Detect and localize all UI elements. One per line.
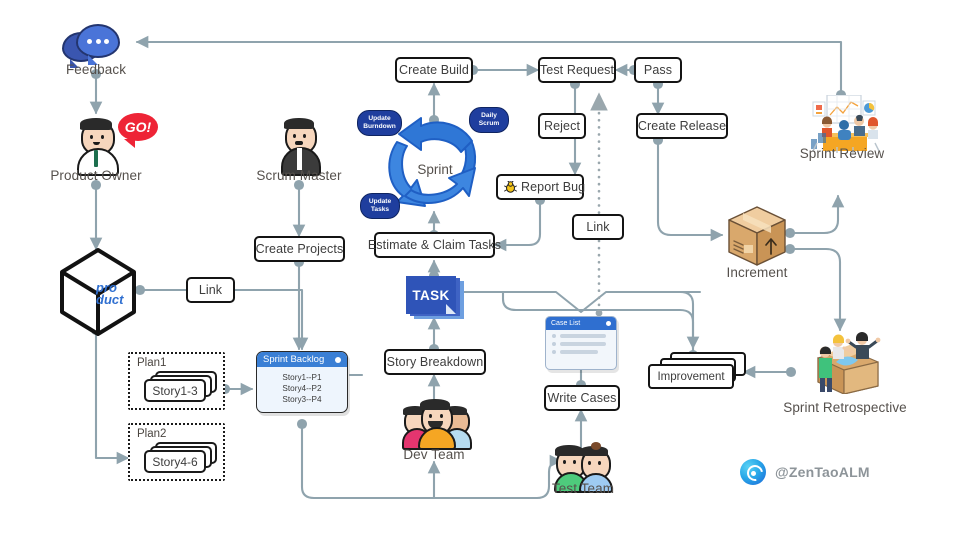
backlog-item: Story4--P2 [257,383,347,394]
sprint-backlog-header: Sprint Backlog [257,352,347,367]
increment-parcel-icon [726,205,788,267]
test-team-label: Test Team [531,481,635,496]
report-bug-box[interactable]: Report Bug [496,174,584,200]
report-bug-label: Report Bug [521,181,585,194]
create-release-box[interactable]: Create Release [636,113,728,139]
sprint-review-label: Sprint Review [791,146,893,161]
backlog-item: Story1--P1 [257,372,347,383]
go-badge: GO! [118,113,158,141]
dev-team-avatar [404,398,466,446]
plan2-story-label: Story4-6 [146,452,204,471]
estimate-claim-tasks-box[interactable]: Estimate & Claim Tasks [374,232,495,258]
product-cube-label: pro duct [96,282,123,306]
zentao-logo-icon [740,459,766,485]
sprint-retrospective-label: Sprint Retrospective [775,400,915,415]
zentao-handle: @ZenTaoALM [775,464,870,480]
status-dot-icon [606,321,611,326]
write-cases-box[interactable]: Write Cases [544,385,620,411]
task-note-icon: TASK [406,276,462,318]
product-owner-label: Product Owner [36,168,156,183]
case-list-title: Case List [551,320,580,327]
improvement-label: Improvement [657,371,724,383]
scrum-workflow-diagram: Feedback GO! Product Owner Scrum Master [0,0,960,539]
pass-box[interactable]: Pass [634,57,682,83]
feedback-label: Feedback [46,62,146,77]
scrum-master-label: Scrum Master [244,168,354,183]
link-left-box[interactable]: Link [186,277,235,303]
bug-icon [504,181,517,193]
product-owner-avatar [72,117,120,173]
sprint-backlog-items: Story1--P1 Story4--P2 Story3--P4 [257,367,347,405]
sprint-retrospective-illustration [792,332,886,394]
task-note-label: TASK [412,288,449,303]
plan1-story-stack: Story1-3 [144,371,222,405]
plan1-story-label: Story1-3 [146,381,204,400]
create-build-box[interactable]: Create Build [395,57,473,83]
backlog-item: Story3--P4 [257,394,347,405]
plan2-label: Plan2 [137,428,166,440]
chat-bubble-front-icon [76,24,120,58]
status-dot-icon [335,357,341,363]
dev-team-label: Dev Team [384,447,484,462]
plan2-story-stack: Story4-6 [144,442,222,476]
create-projects-box[interactable]: Create Projects [254,236,345,262]
sprint-backlog-card[interactable]: Sprint Backlog Story1--P1 Story4--P2 Sto… [256,351,348,413]
daily-scrum-bubble: Daily Scrum [469,107,509,133]
scrum-master-avatar [276,117,322,173]
test-request-box[interactable]: Test Request [538,57,616,83]
case-list-window[interactable]: Case List [545,316,617,370]
link-right-box[interactable]: Link [572,214,624,240]
story-breakdown-box[interactable]: Story Breakdown [384,349,486,375]
case-list-header: Case List [546,317,616,330]
product-cube-icon: pro duct [56,246,140,338]
sprint-center-label: Sprint [375,162,495,177]
sprint-review-illustration [797,95,887,153]
update-burndown-bubble: Update Burndown [357,110,402,136]
zentao-watermark: @ZenTaoALM [740,459,870,485]
sprint-backlog-title: Sprint Backlog [263,354,324,365]
update-tasks-bubble: Update Tasks [360,193,400,219]
improvement-stack[interactable]: Improvement [648,352,748,394]
plan1-label: Plan1 [137,357,166,369]
feedback-icon [62,24,132,64]
reject-box[interactable]: Reject [538,113,586,139]
increment-label: Increment [707,265,807,280]
